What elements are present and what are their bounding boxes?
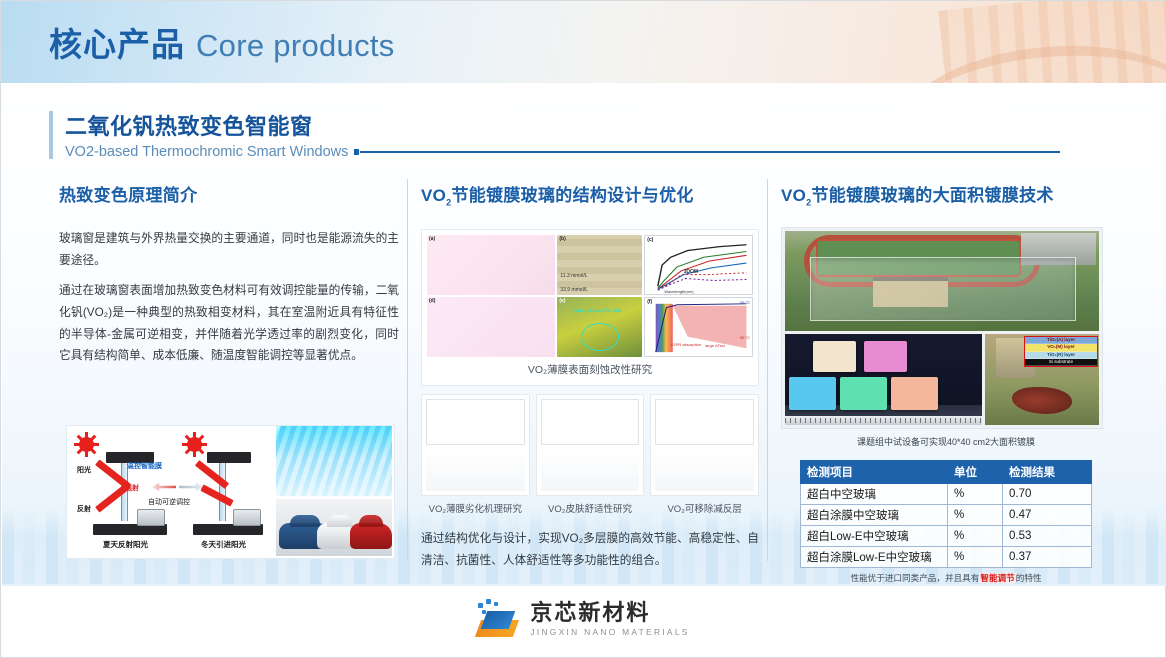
photo-layer-structure: TiO₂(A) layer VO₂(M) layer TiO₂(R) layer… [985,334,1099,425]
table-row: 超白中空玻璃 % 0.70 [801,484,1092,505]
table-body: 超白中空玻璃 % 0.70 超白涂膜中空玻璃 % 0.47 超白Low-E中空玻… [801,484,1092,568]
table-footnote: 性能优于进口同类产品，并且具有智能调节的特性 [781,572,1111,584]
comfort-surface-plot [541,448,640,492]
page-title: 核心产品Core products [49,18,395,66]
left-paragraph-2: 通过在玻璃窗表面增加热致变色材料可有效调控能量的传输，二氧化钒(VO₂)是一种典… [59,280,399,367]
panel-c-3dom-label: 3DOM [684,269,698,275]
panel-f-lspr-label: LSPR absorption [671,342,701,347]
label-sunlight: 阳光 [77,465,91,475]
layer-stack-diagram: TiO₂(A) layer VO₂(M) layer TiO₂(R) layer… [1024,336,1098,366]
panel-b-tag: (b) [559,236,565,242]
cell-item: 超白Low-E中空玻璃 [801,526,948,547]
panel-f-delta-label: large ΔTsol [705,343,725,348]
panel-f-shading [645,298,752,356]
arrow-left-icon [152,483,176,491]
layer-vo2-m: VO₂(M) layer [1025,344,1097,351]
caption-skin-comfort: VO₂皮肤舒适性研究 [536,496,645,518]
th-unit: 单位 [948,461,1003,484]
caption-etching: VO₂薄膜表面刻蚀改性研究 [427,357,753,380]
logo-text-block: 京芯新材料 JINGXIN NANO MATERIALS [530,602,689,637]
panel-e-highlight-circle [581,323,619,351]
section-title-en: VO2-based Thermochromic Smart Windows [65,144,348,160]
panel-f-lspr-chart: (f) 20 °C 90 °C LSPR absorption large ΔT… [644,297,753,357]
section-title-cn: 二氧化钒热致变色智能窗 [65,109,1060,141]
panel-a-tag: (a) [429,236,435,242]
logo-pixel-2 [486,599,491,604]
layer-si-substrate: Si substrate [1025,359,1097,366]
slide-banner: 核心产品Core products [1,1,1166,83]
sample-beige [813,341,856,372]
table-head: 检测项目 单位 检测结果 [801,461,1092,484]
coating-photo-caption: 课题组中试设备可实现40*40 cm2大面积镀膜 [781,435,1111,448]
panel-a-synthesis: (a) [427,235,555,295]
label-reflect: 反射 [77,504,91,514]
cell-item: 超白中空玻璃 [801,484,948,505]
section-subtitle-row: VO2-based Thermochromic Smart Windows [65,144,1060,160]
smart-window-schematic: 阳光 温控智能膜 透射 反射 夏天反射阳光 自动可逆调控 冬天引进阳光 [67,426,272,556]
transmitted-beam-winter [200,484,233,506]
middle-sub-figures: VO₂薄膜劣化机理研究 VO₂皮肤舒适性研究 VO₂可移除减反层 [421,394,759,518]
panel-f-temp-high: 20 °C [740,300,750,305]
panel-d-tag: (d) [429,298,435,304]
antireflection-spectra-plot [655,448,754,492]
subfigure-skin-card [536,394,645,496]
slide-root: 核心产品Core products 二氧化钒热致变色智能窗 VO2-based … [0,0,1166,658]
panel-d-deposition: (d) [427,297,555,357]
cell-result: 0.37 [1003,547,1092,568]
car-red [350,523,392,549]
subfigure-degradation-card [421,394,530,496]
layer-tio2-a: TiO₂(A) layer [1025,337,1097,344]
cell-unit: % [948,526,1003,547]
indoor-unit-summer [137,509,165,526]
logo-pixel-1 [478,603,483,608]
panel-e-tag: (e) [559,298,565,304]
column-divider-left [407,179,408,561]
logo-name-cn: 京芯新材料 [530,602,689,624]
panel-f-temp-low: 90 °C [740,335,750,340]
subfigure-antireflection: VO₂可移除减反层 [650,394,759,518]
degradation-spectra-plot [426,448,525,492]
photo-color-samples [785,334,982,425]
sample-cyan [789,377,836,410]
figure-card-etching: (a) (b) 11.3 mmol/L 33.9 mmol/L (c) 3DOM… [421,229,759,386]
figure-etching-panels: (a) (b) 11.3 mmol/L 33.9 mmol/L (c) 3DOM… [427,235,753,357]
footnote-highlight: 智能调节 [979,573,1015,583]
right-heading-rest: 节能镀膜玻璃的大面积镀膜技术 [811,186,1053,205]
cell-unit: % [948,484,1003,505]
table-header-row: 检测项目 单位 检测结果 [801,461,1092,484]
layer-tio2-r: TiO₂(R) layer [1025,352,1097,359]
panel-b-films: (b) 11.3 mmol/L 33.9 mmol/L [557,235,642,295]
caption-degradation: VO₂薄膜劣化机理研究 [421,496,530,518]
caption-winter: 冬天引进阳光 [201,539,246,550]
table-row: 超白Low-E中空玻璃 % 0.53 [801,526,1092,547]
logo-pixel-3 [494,602,498,606]
subfigure-skin-comfort: VO₂皮肤舒适性研究 [536,394,645,518]
panel-c-transmittance-chart: (c) 3DOM Wavelength(nm) [644,235,753,295]
panel-b-conc-1: 11.3 mmol/L [560,273,587,279]
page-title-cn: 核心产品 [49,26,185,63]
subfigure-degradation: VO₂薄膜劣化机理研究 [421,394,530,518]
cell-unit: % [948,547,1003,568]
logo-pixel-4 [482,610,486,614]
application-photos [276,426,392,556]
th-item: 检测项目 [801,461,948,484]
cell-item: 超白涂膜Low-E中空玻璃 [801,547,948,568]
panel-e-label: Nano porous VO₂ film [574,308,622,313]
caption-antireflection: VO₂可移除减反层 [650,496,759,518]
panel-b-conc-3: 33.9 mmol/L [560,287,588,293]
middle-column-footer-text: 通过结构优化与设计，实现VO₂多层膜的高效节能、高稳定性、自清洁、抗菌性、人体舒… [421,528,759,571]
right-heading-prefix: VO [781,186,806,205]
sample-green [840,377,887,410]
page-title-en: Core products [196,28,395,63]
column-divider-right [767,179,768,561]
panel-f-tag: (f) [647,299,652,305]
column-principle: 热致变色原理简介 玻璃窗是建筑与外界热量交换的主要通道，同时也是能源流失的主要途… [59,181,399,376]
test-results-table: 检测项目 单位 检测结果 超白中空玻璃 % 0.70 超白涂膜中空玻璃 % 0.… [800,460,1092,568]
table-row: 超白涂膜Low-E中空玻璃 % 0.37 [801,547,1092,568]
column-structure-design: VO2节能镀膜玻璃的结构设计与优化 (a) (b) 11.3 mmol/L 33… [421,181,759,572]
panel-c-curves [645,236,752,294]
cell-result: 0.53 [1003,526,1092,547]
caption-summer: 夏天反射阳光 [103,539,148,550]
middle-heading-prefix: VO [421,186,446,205]
coated-glass-pane [810,257,1076,321]
cell-result: 0.47 [1003,505,1092,526]
photo-large-area-glass [785,231,1099,331]
reversible-arrows [152,483,203,491]
logo-name-en: JINGXIN NANO MATERIALS [530,627,689,637]
footnote-suffix: 的特性 [1016,573,1042,583]
sample-pink [864,341,907,372]
company-logo: 京芯新材料 JINGXIN NANO MATERIALS [1,599,1165,639]
photo-bottom-row: TiO₂(A) layer VO₂(M) layer TiO₂(R) layer… [785,334,1099,425]
middle-heading-rest: 节能镀膜玻璃的结构设计与优化 [451,186,693,205]
panel-c-xaxis: Wavelength(nm) [664,289,693,294]
sun-icon-summer [79,437,94,452]
table-row: 超白涂膜中空玻璃 % 0.47 [801,505,1092,526]
th-result: 检测结果 [1003,461,1092,484]
panel-e-leaf-photo: (e) Nano porous VO₂ film [557,297,642,357]
glass-panel-winter [219,463,226,521]
right-column-heading: VO2节能镀膜玻璃的大面积镀膜技术 [781,181,1111,207]
antireflection-schematic [655,399,754,445]
section-title-block: 二氧化钒热致变色智能窗 VO2-based Thermochromic Smar… [49,109,1060,160]
label-smart-film: 温控智能膜 [127,461,162,471]
section-accent-bar [49,111,53,159]
cell-result: 0.70 [1003,484,1092,505]
footnote-prefix: 性能优于进口同类产品，并且具有 [850,573,979,583]
panel-c-tag: (c) [647,237,653,243]
sample-peach [891,377,938,410]
red-region [1012,387,1071,414]
middle-column-heading: VO2节能镀膜玻璃的结构设计与优化 [421,181,759,207]
sun-icon-winter [187,437,202,452]
ruler [785,416,982,425]
column-coating-technology: VO2节能镀膜玻璃的大面积镀膜技术 [781,181,1111,584]
subfigure-ar-card [650,394,759,496]
ceiling-slab-winter [207,452,251,463]
cell-unit: % [948,505,1003,526]
solar-spectrum-plot [541,399,640,445]
indoor-unit-winter [233,509,261,526]
section-rule [360,151,1060,153]
cell-item: 超白涂膜中空玻璃 [801,505,948,526]
middle-figure-grid: (a) (b) 11.3 mmol/L 33.9 mmol/L (c) 3DOM… [421,229,759,571]
left-column-heading: 热致变色原理简介 [59,181,399,206]
label-auto-control: 自动可逆调控 [148,497,190,507]
label-transmit: 透射 [125,483,139,493]
coating-photo-group: TiO₂(A) layer VO₂(M) layer TiO₂(R) layer… [781,227,1103,429]
logo-mark-icon [476,599,520,639]
principle-illustration: 阳光 温控智能膜 透射 反射 夏天反射阳光 自动可逆调控 冬天引进阳光 [66,425,395,559]
left-paragraph-1: 玻璃窗是建筑与外界热量交换的主要通道，同时也是能源流失的主要途径。 [59,228,399,271]
photo-cars [276,499,392,556]
photo-glass-building [276,426,392,496]
degradation-mechanism-diagram [426,399,525,445]
